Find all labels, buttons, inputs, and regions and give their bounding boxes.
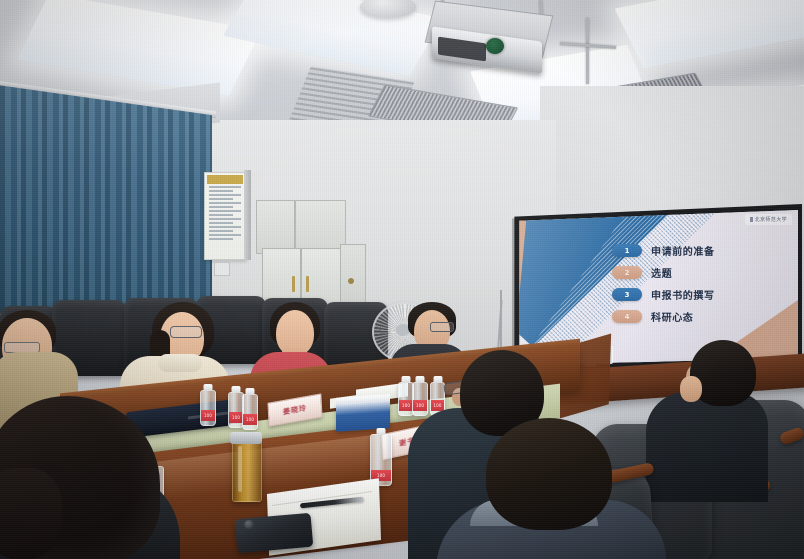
agenda-item: 4 科研心态 bbox=[612, 309, 788, 324]
agenda-number-badge: 2 bbox=[612, 266, 642, 279]
tea-thermos[interactable] bbox=[232, 440, 262, 502]
participant-2-collar bbox=[158, 354, 202, 372]
cabinet-handle[interactable] bbox=[292, 276, 295, 292]
agenda-item: 2 选题 bbox=[612, 265, 788, 280]
water-bottle[interactable]: 100 bbox=[242, 394, 258, 430]
cabinet-divider bbox=[294, 200, 296, 252]
agenda-label: 选题 bbox=[651, 265, 672, 280]
cabinet-knob[interactable] bbox=[348, 278, 354, 284]
agenda-label: 申报书的撰写 bbox=[651, 287, 715, 302]
participant-4-glasses bbox=[430, 322, 454, 332]
agenda-label: 科研心态 bbox=[651, 309, 693, 324]
bottle-cap bbox=[402, 376, 411, 383]
storage-cabinet-upper bbox=[256, 200, 346, 254]
smartphone[interactable] bbox=[235, 513, 314, 553]
bottle-label: 100 bbox=[413, 400, 427, 411]
participant-7-head bbox=[486, 418, 612, 530]
bottle-cap bbox=[433, 376, 442, 383]
participant-8-body bbox=[646, 392, 768, 502]
bottle-cap bbox=[232, 386, 241, 393]
water-bottle[interactable]: 100 bbox=[412, 382, 428, 416]
phone-camera-icon bbox=[244, 520, 254, 529]
thermos-highlight bbox=[238, 446, 242, 492]
agenda-number-badge: 3 bbox=[612, 288, 642, 301]
water-bottle[interactable]: 100 bbox=[200, 390, 216, 426]
bottle-cap bbox=[204, 384, 213, 391]
bottle-label: 100 bbox=[229, 412, 243, 423]
agenda-number-badge: 1 bbox=[612, 244, 642, 257]
bottle-label: 100 bbox=[201, 410, 215, 421]
agenda-item: 1 申请前的准备 bbox=[612, 243, 788, 258]
bottle-cap bbox=[246, 388, 255, 395]
slide-watermark: 北京师范大学 bbox=[745, 214, 792, 225]
poster-frame-edge bbox=[244, 170, 251, 260]
conference-room-photo: 北京师范大学 1 申请前的准备 2 选题 3 申报书的撰写 4 科研心态 bbox=[0, 0, 804, 559]
cabinet-handle[interactable] bbox=[306, 276, 309, 292]
participant-5-ponytail bbox=[0, 468, 62, 559]
participant-8-hand bbox=[680, 376, 702, 402]
thermos-cap[interactable] bbox=[230, 432, 262, 444]
watermark-mark-icon bbox=[750, 217, 753, 222]
agenda-number-badge: 4 bbox=[612, 310, 642, 323]
watermark-text: 北京师范大学 bbox=[755, 216, 787, 223]
bottle-cap bbox=[416, 376, 425, 383]
agenda-label: 申请前的准备 bbox=[651, 243, 715, 258]
bottle-cap bbox=[377, 428, 386, 435]
bottle-label: 100 bbox=[399, 400, 413, 411]
name-plate-text: 姜晓玲 bbox=[283, 403, 307, 417]
agenda-item: 3 申报书的撰写 bbox=[612, 287, 788, 302]
slide-agenda-list: 1 申请前的准备 2 选题 3 申报书的撰写 4 科研心态 bbox=[612, 243, 788, 324]
participant-2-glasses bbox=[170, 326, 202, 338]
wall-switch-box bbox=[214, 262, 230, 276]
projector-lens-icon bbox=[486, 38, 504, 54]
wall-notice-poster bbox=[204, 172, 246, 260]
bottle-label: 100 bbox=[243, 414, 257, 425]
projector-mount-rod bbox=[586, 18, 589, 84]
